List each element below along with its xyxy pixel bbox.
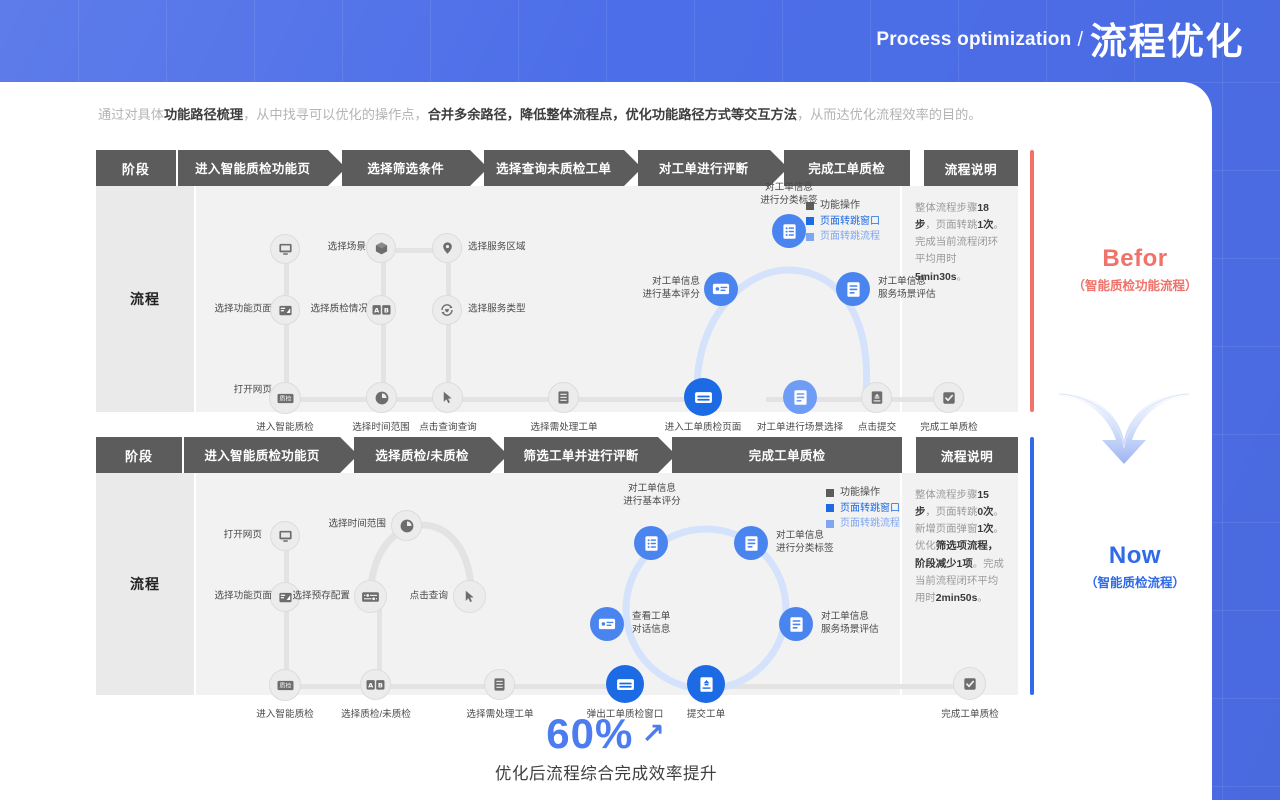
svg-text:B: B — [378, 681, 383, 689]
footer-percent-group: 60% ↗ — [546, 712, 666, 756]
now-node-card-icon — [590, 607, 624, 641]
before-node-qc-badge-icon: 质检 — [269, 382, 301, 414]
before-step-chevrons: 进入智能质检功能页 选择筛选条件 选择查询未质检工单 对工单进行评断 完成工单质… — [178, 150, 910, 186]
svg-text:B: B — [383, 307, 388, 315]
now-node-label-13: 对工单信息 服务场景评估 — [821, 611, 937, 637]
now-node-window-icon — [606, 665, 644, 703]
before-node-list-icon — [548, 382, 579, 413]
now-step-1: 进入智能质检功能页 — [184, 437, 340, 473]
before-step-5: 完成工单质检 — [784, 150, 910, 186]
legend-item-3: 页面转跳流程 — [826, 516, 900, 532]
intro-bold-2: 合并多余路径，降低整体流程点，优化功能路径方式等交互方法 — [428, 107, 797, 122]
before-node-cube-icon — [366, 233, 396, 263]
legend-swatch-lightblue — [806, 233, 814, 241]
before-note-header: 流程说明 — [924, 150, 1018, 186]
before-node-ab-icon: AB — [366, 295, 396, 325]
svg-text:质检: 质检 — [279, 681, 291, 689]
intro-bold-1: 功能路径梳理 — [164, 107, 243, 122]
now-table-header: 阶段 进入智能质检功能页 选择质检/未质检 筛选工单并进行评断 完成工单质检 流… — [96, 437, 1018, 473]
now-node-label-10: 对工单信息 进行基本评分 — [586, 483, 718, 509]
before-node-label-3: 进入智能质检 — [240, 422, 330, 435]
before-node-label-2: 选择功能页面 — [198, 304, 272, 317]
legend-swatch-grey — [806, 202, 814, 210]
now-flow-table: 阶段 进入智能质检功能页 选择质检/未质检 筛选工单并进行评断 完成工单质检 流… — [96, 437, 1018, 695]
before-flow-diagram: 打开网页 选择功能页面 质检 进入智能质检 选择场景 选择质检情况 AB — [196, 186, 900, 412]
legend-swatch-lightblue — [826, 520, 834, 528]
before-node-refresh-heart-icon — [432, 295, 462, 325]
trend-up-arrow-icon: ↗ — [641, 719, 665, 748]
legend-item-2: 页面转跳窗口 — [806, 214, 880, 230]
now-stage-header: 阶段 — [96, 437, 184, 473]
now-step-2: 选择质检/未质检 — [354, 437, 490, 473]
now-node-label-2: 选择功能页面 — [198, 591, 272, 604]
before-caption: Befor （智能质检功能流程） — [1040, 246, 1230, 294]
before-node-label-4: 选择场景 — [304, 242, 366, 255]
now-node-slider-icon — [354, 580, 387, 613]
before-step-1: 进入智能质检功能页 — [178, 150, 328, 186]
legend-item-2: 页面转跳窗口 — [826, 501, 900, 517]
legend-swatch-grey — [826, 489, 834, 497]
before-flow-table: 阶段 进入智能质检功能页 选择筛选条件 选择查询未质检工单 对工单进行评断 完成… — [96, 150, 1018, 412]
before-node-label-17: 完成工单质检 — [903, 422, 995, 435]
edge — [796, 684, 966, 689]
before-node-doc-page-icon — [783, 380, 817, 414]
svg-text:质检: 质检 — [279, 394, 291, 402]
now-step-4: 完成工单质检 — [672, 437, 902, 473]
now-note-header: 流程说明 — [916, 437, 1018, 473]
footer-percent-value: 60% — [546, 712, 633, 756]
before-table-header: 阶段 进入智能质检功能页 选择筛选条件 选择查询未质检工单 对工单进行评断 完成… — [96, 150, 1018, 186]
before-stage-row-label: 流程 — [96, 186, 196, 412]
before-node-doc-lines-icon — [836, 272, 870, 306]
now-flow-diagram: 打开网页 选择功能页面 质检 进入智能质检 选择时间范围 选择预存配置 AB 选… — [196, 473, 900, 695]
now-node-label-7: 点击查询 — [392, 591, 448, 604]
legend-swatch-blue — [826, 504, 834, 512]
page-title: 流程优化 — [1090, 23, 1244, 60]
down-arrow-icon — [1058, 392, 1190, 468]
before-step-3: 选择查询未质检工单 — [484, 150, 624, 186]
before-node-label-5: 选择质检情况 — [296, 304, 368, 317]
legend-swatch-blue — [806, 217, 814, 225]
before-legend: 功能操作 页面转跳窗口 页面转跳流程 — [806, 198, 880, 245]
edge — [284, 537, 289, 687]
before-node-monitor-icon — [270, 234, 300, 264]
now-node-check-icon — [953, 667, 986, 700]
now-node-ab-icon: AB — [360, 669, 391, 700]
now-caption-subtitle: （智能质检流程） — [1040, 572, 1230, 591]
legend-item-3: 页面转跳流程 — [806, 229, 880, 245]
now-caption-title: Now — [1040, 543, 1230, 569]
before-caption-subtitle: （智能质检功能流程） — [1040, 275, 1230, 294]
edge — [446, 397, 616, 402]
now-accent-rail — [1030, 437, 1034, 695]
now-node-monitor-icon — [270, 521, 300, 551]
legend-item-1: 功能操作 — [806, 198, 880, 214]
before-node-label-10: 选择需处理工单 — [518, 422, 610, 435]
edge — [377, 684, 542, 689]
now-node-cursor-icon — [453, 580, 486, 613]
before-node-card-icon — [704, 272, 738, 306]
now-note-text: 整体流程步骤15步，页面转跳0次。新增页面弹窗1次。优化筛选项流程，阶段减少1项… — [902, 473, 1018, 695]
now-caption: Now （智能质检流程） — [1040, 543, 1230, 591]
intro-text-1: 通过对具体 — [98, 107, 164, 122]
now-node-submit-icon — [687, 665, 725, 703]
now-node-doc-lines-icon-1 — [734, 526, 768, 560]
before-stage-header: 阶段 — [96, 150, 178, 186]
edge — [381, 250, 386, 400]
before-node-label-7: 选择服务区域 — [468, 242, 526, 255]
before-node-cursor-icon — [432, 382, 463, 413]
page-header: Process optimization / 流程优化 — [0, 0, 1280, 82]
before-node-label-8: 选择服务类型 — [468, 304, 526, 317]
now-node-label-12: 对工单信息 进行分类标签 — [776, 530, 892, 556]
edge — [284, 250, 289, 400]
before-node-label-9: 点击查询查询 — [403, 422, 493, 435]
now-stage-row-label: 流程 — [96, 473, 196, 695]
now-node-label-4: 选择时间范围 — [314, 519, 386, 532]
intro-paragraph: 通过对具体功能路径梳理，从中找寻可以优化的操作点，合并多余路径，降低整体流程点，… — [98, 105, 1128, 125]
now-step-3: 筛选工单并进行评断 — [504, 437, 658, 473]
before-node-window-icon — [684, 378, 722, 416]
before-node-clock-icon — [366, 382, 397, 413]
header-english-title: Process optimization — [876, 29, 1071, 54]
before-node-doc-list-icon — [772, 214, 806, 248]
now-table-body: 流程 打开网页 选 — [96, 473, 1018, 695]
now-node-label-5: 选择预存配置 — [276, 591, 350, 604]
footer-caption: 优化后流程综合完成效率提升 — [0, 760, 1212, 784]
before-step-4: 对工单进行评断 — [638, 150, 770, 186]
header-separator: / — [1077, 29, 1083, 52]
before-caption-title: Befor — [1040, 246, 1230, 272]
now-node-qc-badge-icon: 质检 — [269, 669, 301, 701]
before-step-2: 选择筛选条件 — [342, 150, 470, 186]
now-node-doc-lines-icon-2 — [779, 607, 813, 641]
before-node-label-12: 对工单信息 进行基本评分 — [588, 276, 700, 302]
before-node-submit-icon — [861, 382, 892, 413]
now-legend: 功能操作 页面转跳窗口 页面转跳流程 — [826, 485, 900, 532]
before-node-label-14: 对工单信息 服务场景评估 — [878, 276, 990, 302]
legend-item-1: 功能操作 — [826, 485, 900, 501]
now-node-label-1: 打开网页 — [198, 530, 262, 543]
intro-text-2: ，从中找寻可以优化的操作点， — [243, 107, 428, 122]
before-node-pin-icon — [432, 233, 462, 263]
now-node-list-icon — [484, 669, 515, 700]
before-table-body: 流程 打开网页 选择功能页面 — [96, 186, 1018, 412]
footer-summary: 60% ↗ 优化后流程综合完成效率提升 — [0, 712, 1212, 784]
intro-text-3: ，从而达优化流程效率的目的。 — [797, 107, 982, 122]
before-accent-rail — [1030, 150, 1034, 412]
now-node-label-11: 查看工单 对话信息 — [632, 611, 722, 637]
before-node-check-icon — [933, 382, 964, 413]
now-node-doc-list-icon — [634, 526, 668, 560]
now-step-chevrons: 进入智能质检功能页 选择质检/未质检 筛选工单并进行评断 完成工单质检 — [184, 437, 902, 473]
now-node-clock-icon — [391, 510, 422, 541]
before-node-label-1: 打开网页 — [206, 385, 272, 398]
